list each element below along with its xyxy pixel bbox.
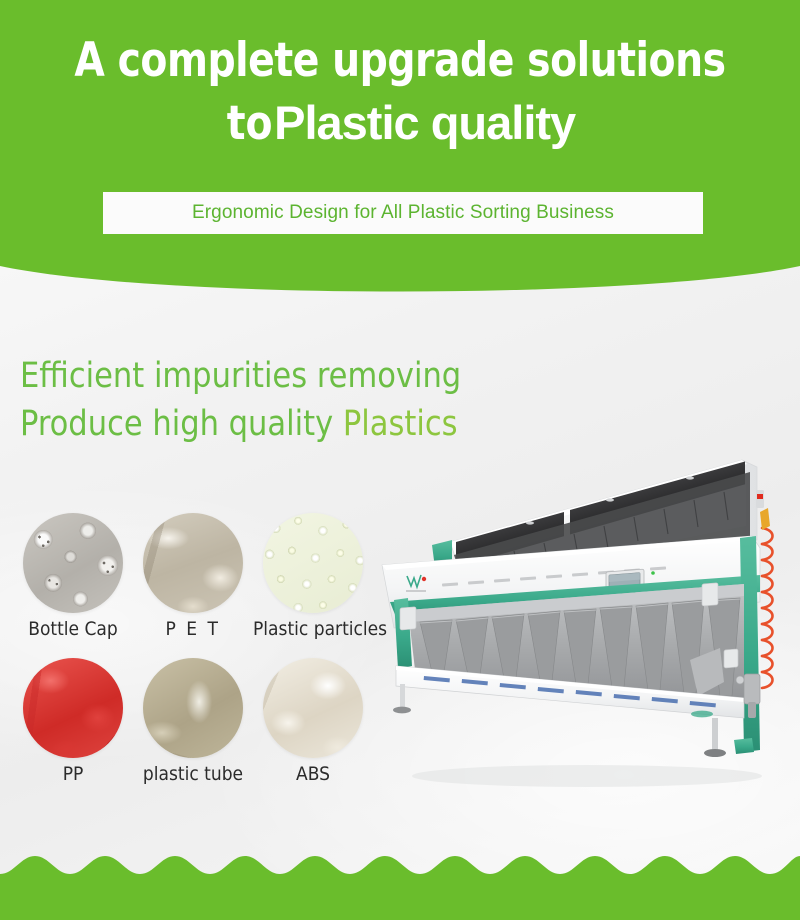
product-item-bottle-cap[interactable]: Bottle Cap	[13, 513, 133, 640]
machine-floor-shadow	[412, 765, 762, 787]
machine-status-led-green	[651, 571, 655, 575]
product-label: Plastic particles	[253, 618, 373, 640]
product-item-plastic-tube[interactable]: plastic tube	[133, 658, 253, 785]
product-label: P E T	[133, 618, 253, 640]
plastic-color-sorter-machine	[372, 450, 792, 795]
product-label: PP	[13, 763, 133, 785]
machine-hose-connector	[760, 508, 770, 530]
product-item-abs[interactable]: ABS	[253, 658, 373, 785]
machine-air-hose	[762, 528, 773, 688]
bottle-cap-icon	[23, 513, 123, 613]
product-item-pet[interactable]: P E T	[133, 513, 253, 640]
abs-flake-icon	[263, 658, 363, 758]
product-label: plastic tube	[133, 763, 253, 785]
plastic-particle-icon	[263, 513, 363, 613]
promo-banner-page: A complete upgrade solutions to Plastic …	[0, 0, 800, 920]
plastic-tube-icon	[143, 658, 243, 758]
product-label: ABS	[253, 763, 373, 785]
product-sample-grid: Bottle Cap P E T Plastic particles PP	[0, 0, 400, 920]
pet-flake-icon	[143, 513, 243, 613]
product-item-plastic-particles[interactable]: Plastic particles	[253, 513, 373, 640]
pp-granule-icon	[23, 658, 123, 758]
product-label: Bottle Cap	[13, 618, 133, 640]
product-item-pp[interactable]: PP	[13, 658, 133, 785]
bottom-wave-decoration	[0, 840, 800, 920]
